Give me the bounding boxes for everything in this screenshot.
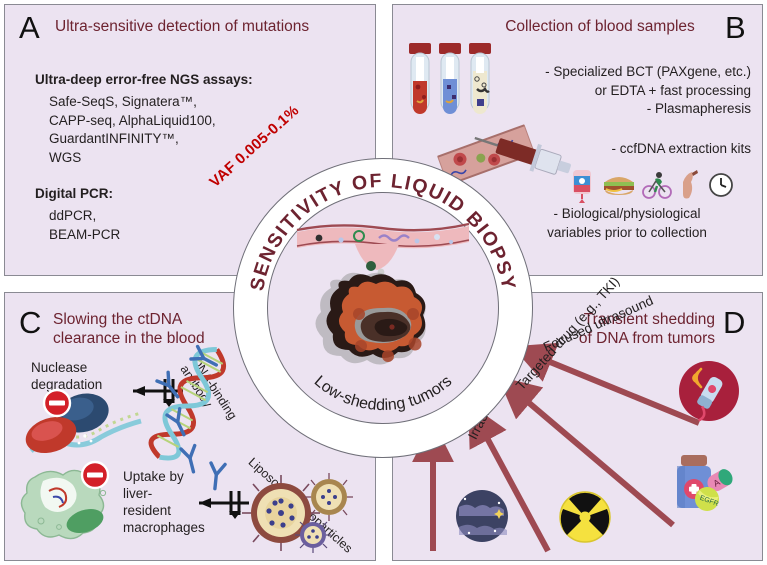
macrophage-cell <box>19 465 129 549</box>
figure-canvas: A Ultra-sensitive detection of mutations… <box>0 0 767 565</box>
smoking-hand-icon <box>679 170 701 200</box>
cyclist-icon <box>642 171 672 199</box>
circle-bottom-text: Low-shedding tumors <box>311 373 456 414</box>
radiation-icon <box>559 491 611 543</box>
central-circle: SENSITIVITY OF LIQUID BIOPSY Low-sheddin… <box>233 158 533 458</box>
panel-b-title: Collection of blood samples <box>481 17 719 36</box>
ngs-assays-heading: Ultra-deep error-free NGS assays: <box>35 71 253 90</box>
low-shedding-tumor-illustration <box>293 210 473 370</box>
blood-collection-methods: - Specialized BCT (PAXgene, etc.) or EDT… <box>513 63 751 119</box>
preanalytical-variables-icon-row <box>568 168 734 202</box>
digital-pcr-heading: Digital PCR: <box>35 185 113 204</box>
ccfdna-extraction-label: - ccfDNA extraction kits <box>513 140 751 159</box>
ngs-assays-list: Safe-SeqS, Signatera™, CAPP-seq, AlphaLi… <box>49 93 216 167</box>
panel-c-title: Slowing the ctDNA clearance in the blood <box>53 310 263 348</box>
nuclease-degradation-label: Nuclease degradation <box>31 359 102 393</box>
panel-b-letter: B <box>725 12 746 43</box>
panel-a-letter: A <box>19 12 40 43</box>
prohibition-sign <box>44 390 70 416</box>
drug-bottle-pills-icon: A EGFR <box>671 451 743 523</box>
biological-variables-label: - Biological/physiological variables pri… <box>503 205 751 242</box>
ultrasound-probe-icon <box>673 355 745 427</box>
clock-icon <box>708 172 734 198</box>
blood-collection-tubes <box>405 41 497 119</box>
svg-text:Low-shedding tumors: Low-shedding tumors <box>311 373 456 414</box>
blood-bag-icon <box>568 168 596 202</box>
panel-c-letter: C <box>19 307 41 338</box>
prohibition-sign <box>82 462 108 488</box>
panel-a-title: Ultra-sensitive detection of mutations <box>55 17 309 36</box>
liposomal-nanoparticles <box>247 475 363 563</box>
night-sky-moon-icon <box>455 489 509 543</box>
burger-icon <box>603 172 635 198</box>
digital-pcr-list: ddPCR, BEAM-PCR <box>49 207 120 244</box>
inhibition-arrow-macrophage <box>187 489 253 525</box>
